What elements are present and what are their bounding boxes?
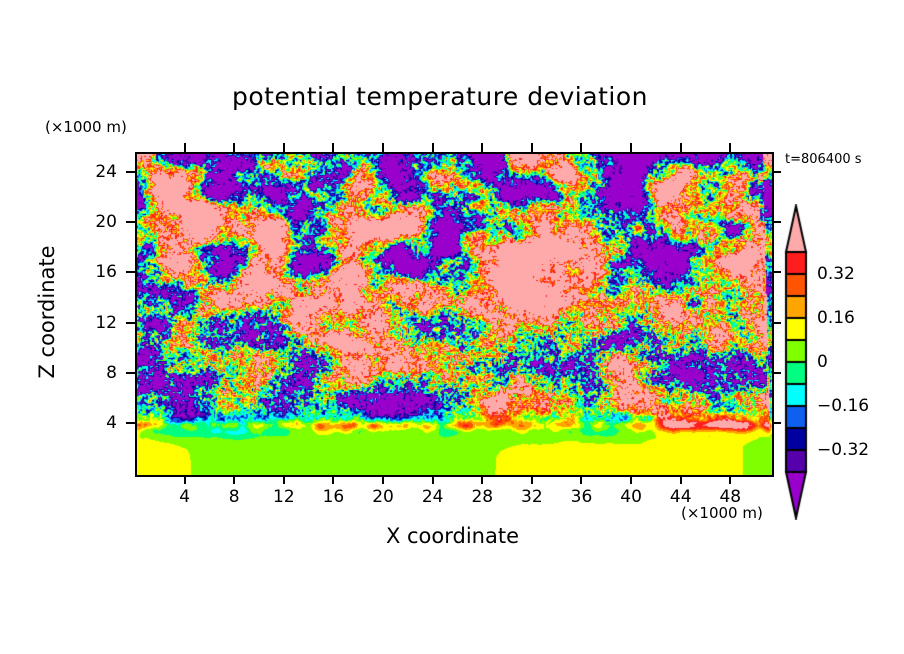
x-tick-mark [680,475,682,484]
x-tick-label: 8 [229,487,240,507]
x-axis-title: X coordinate [135,524,770,548]
colorbar-tick-label: 0 [817,352,828,372]
y-tick-mark-right [772,171,781,173]
x-tick-mark [481,475,483,484]
x-tick-mark-top [432,143,434,152]
contour-field [137,154,772,475]
x-tick-label: 12 [273,487,295,507]
y-tick-label: 4 [77,413,117,433]
x-tick-mark-top [382,143,384,152]
plot-area[interactable] [135,152,774,477]
x-tick-mark-top [481,143,483,152]
x-tick-mark-top [184,143,186,152]
y-tick-mark [126,271,135,273]
colorbar-gradient [781,204,811,520]
x-tick-mark [729,475,731,484]
y-tick-label: 24 [77,162,117,182]
x-tick-mark-top [680,143,682,152]
x-tick-mark-top [233,143,235,152]
x-tick-mark-top [630,143,632,152]
x-tick-label: 16 [323,487,345,507]
x-tick-mark-top [580,143,582,152]
x-tick-label: 40 [620,487,642,507]
page-title: potential temperature deviation [0,82,880,111]
x-tick-label: 20 [372,487,394,507]
x-tick-mark [432,475,434,484]
colorbar[interactable] [781,204,811,520]
y-tick-label: 12 [77,313,117,333]
y-tick-mark [126,422,135,424]
x-axis-units-label: (×1000 m) [681,504,763,522]
x-tick-label: 28 [471,487,493,507]
x-tick-label: 4 [179,487,190,507]
x-tick-mark-top [283,143,285,152]
colorbar-tick-label: −0.32 [817,440,869,460]
y-tick-mark [126,171,135,173]
x-tick-mark-top [332,143,334,152]
y-axis-units-label: (×1000 m) [45,118,127,136]
x-tick-mark [332,475,334,484]
y-tick-mark-right [772,372,781,374]
colorbar-tick-label: 0.16 [817,308,855,328]
x-tick-mark [283,475,285,484]
colorbar-tick-label: −0.16 [817,396,869,416]
x-tick-mark [382,475,384,484]
y-tick-label: 20 [77,212,117,232]
time-annotation: t=806400 s [785,152,862,167]
x-tick-mark [531,475,533,484]
y-tick-mark-right [772,322,781,324]
x-tick-label: 36 [571,487,593,507]
colorbar-tick-label: 0.32 [817,264,855,284]
y-tick-mark-right [772,422,781,424]
y-axis-title: Z coordinate [35,245,59,378]
y-tick-label: 8 [77,363,117,383]
x-tick-label: 24 [422,487,444,507]
x-tick-mark-top [729,143,731,152]
y-tick-mark [126,221,135,223]
y-tick-mark [126,372,135,374]
figure-canvas: potential temperature deviation (×1000 m… [0,0,904,654]
x-tick-mark [630,475,632,484]
x-tick-mark [184,475,186,484]
y-tick-mark-right [772,271,781,273]
y-tick-mark [126,322,135,324]
x-tick-mark [233,475,235,484]
y-tick-label: 16 [77,262,117,282]
x-tick-label: 32 [521,487,543,507]
x-tick-mark [580,475,582,484]
x-tick-mark-top [531,143,533,152]
y-tick-mark-right [772,221,781,223]
